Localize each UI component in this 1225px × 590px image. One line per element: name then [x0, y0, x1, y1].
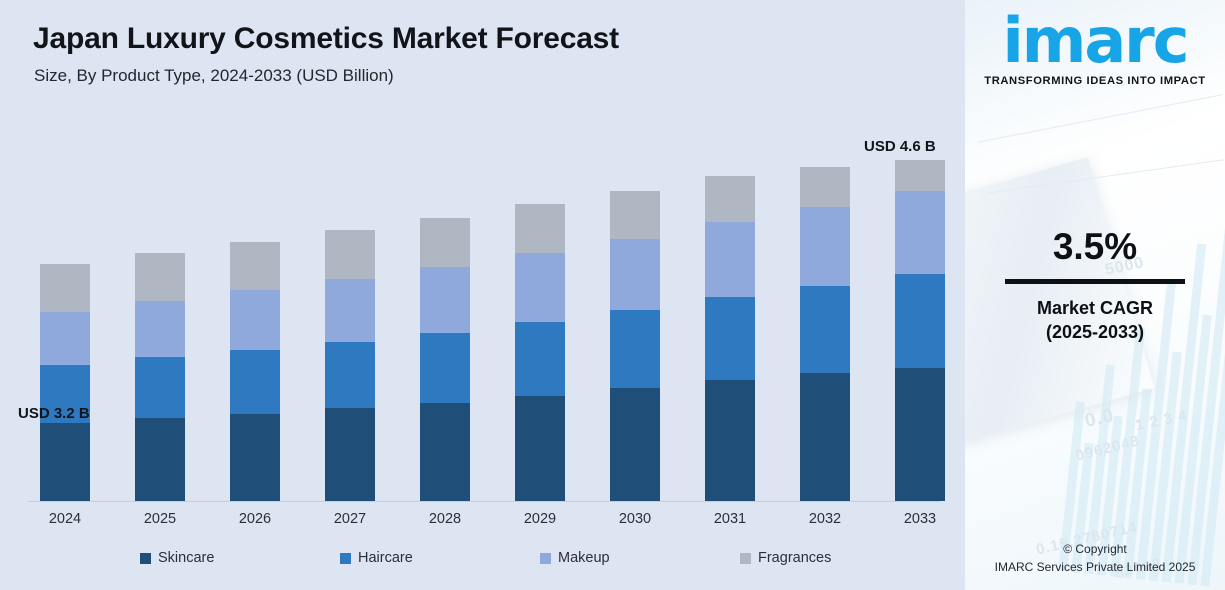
cagr-block: 3.5% Market CAGR (2025-2033)	[965, 228, 1225, 345]
bar-segment-haircare[interactable]	[135, 357, 185, 418]
bar-2029[interactable]	[515, 204, 565, 501]
bar-2024[interactable]	[40, 264, 90, 501]
bar-segment-skincare[interactable]	[230, 414, 280, 501]
cagr-label: Market CAGR	[965, 296, 1225, 320]
legend-swatch-haircare	[340, 553, 351, 564]
legend-item-makeup[interactable]: Makeup	[540, 550, 610, 566]
x-axis-tick-2025: 2025	[135, 511, 185, 527]
x-axis-tick-2026: 2026	[230, 511, 280, 527]
legend-swatch-skincare	[140, 553, 151, 564]
x-axis-tick-2029: 2029	[515, 511, 565, 527]
copyright-line-2: IMARC Services Private Limited 2025	[965, 558, 1225, 576]
legend-item-skincare[interactable]: Skincare	[140, 550, 214, 566]
x-axis-tick-2030: 2030	[610, 511, 660, 527]
cagr-value: 3.5%	[965, 228, 1225, 265]
bar-segment-fragrances[interactable]	[420, 218, 470, 268]
stacked-bar-chart: 2024202520262027202820292030203120322033	[0, 0, 965, 590]
legend-item-fragrances[interactable]: Fragrances	[740, 550, 831, 566]
bar-segment-makeup[interactable]	[515, 253, 565, 321]
cagr-divider	[1005, 279, 1185, 284]
bar-segment-skincare[interactable]	[515, 396, 565, 501]
bar-segment-makeup[interactable]	[610, 239, 660, 310]
bar-2026[interactable]	[230, 242, 280, 501]
legend-label: Skincare	[158, 550, 214, 566]
bar-segment-fragrances[interactable]	[895, 160, 945, 191]
bar-segment-makeup[interactable]	[135, 301, 185, 357]
bar-segment-makeup[interactable]	[325, 279, 375, 341]
bar-2030[interactable]	[610, 191, 660, 501]
bar-segment-fragrances[interactable]	[135, 253, 185, 301]
bar-segment-fragrances[interactable]	[325, 230, 375, 279]
x-axis-tick-2033: 2033	[895, 511, 945, 527]
imarc-logo: imarc TRANSFORMING IDEAS INTO IMPACT	[965, 12, 1225, 87]
copyright-block: © Copyright IMARC Services Private Limit…	[965, 540, 1225, 576]
bar-segment-makeup[interactable]	[230, 290, 280, 349]
bar-segment-makeup[interactable]	[800, 207, 850, 286]
copyright-line-1: © Copyright	[965, 540, 1225, 558]
bar-segment-haircare[interactable]	[895, 274, 945, 367]
legend-swatch-fragrances	[740, 553, 751, 564]
bar-segment-fragrances[interactable]	[40, 264, 90, 312]
bar-segment-skincare[interactable]	[40, 423, 90, 501]
legend-label: Makeup	[558, 550, 610, 566]
bar-2025[interactable]	[135, 253, 185, 501]
bar-segment-haircare[interactable]	[610, 310, 660, 389]
x-axis-tick-2028: 2028	[420, 511, 470, 527]
bar-2027[interactable]	[325, 230, 375, 501]
bar-segment-skincare[interactable]	[325, 408, 375, 501]
bar-segment-skincare[interactable]	[895, 368, 945, 501]
bar-2028[interactable]	[420, 218, 470, 501]
bar-segment-skincare[interactable]	[135, 418, 185, 501]
bar-segment-skincare[interactable]	[420, 403, 470, 501]
legend-label: Fragrances	[758, 550, 831, 566]
bar-segment-skincare[interactable]	[705, 380, 755, 501]
x-axis-tick-2032: 2032	[800, 511, 850, 527]
legend-item-haircare[interactable]: Haircare	[340, 550, 413, 566]
bar-segment-makeup[interactable]	[705, 222, 755, 298]
end-value-annotation: USD 4.6 B	[864, 138, 936, 155]
bar-segment-haircare[interactable]	[515, 322, 565, 396]
bar-segment-haircare[interactable]	[800, 286, 850, 373]
x-axis-tick-2027: 2027	[325, 511, 375, 527]
brand-panel: 0.0 1 2 3 4 5000 0962048 0.15.2780714 92…	[965, 0, 1225, 590]
bar-segment-haircare[interactable]	[420, 333, 470, 403]
bar-segment-fragrances[interactable]	[705, 176, 755, 221]
x-axis-tick-2024: 2024	[40, 511, 90, 527]
bar-segment-haircare[interactable]	[230, 350, 280, 414]
bar-segment-skincare[interactable]	[800, 373, 850, 501]
bar-segment-fragrances[interactable]	[800, 167, 850, 207]
bar-2033[interactable]	[895, 160, 945, 501]
chart-panel: Japan Luxury Cosmetics Market Forecast S…	[0, 0, 965, 590]
bar-segment-fragrances[interactable]	[230, 242, 280, 291]
bar-segment-makeup[interactable]	[895, 191, 945, 274]
logo-tagline: TRANSFORMING IDEAS INTO IMPACT	[965, 75, 1225, 87]
bar-segment-makeup[interactable]	[420, 267, 470, 332]
bar-segment-makeup[interactable]	[40, 312, 90, 365]
chart-baseline	[28, 501, 940, 502]
cagr-period: (2025-2033)	[965, 320, 1225, 344]
logo-wordmark: imarc	[965, 12, 1225, 71]
bar-segment-skincare[interactable]	[610, 388, 660, 501]
legend-label: Haircare	[358, 550, 413, 566]
bar-segment-fragrances[interactable]	[610, 191, 660, 238]
screenshot-root: Japan Luxury Cosmetics Market Forecast S…	[0, 0, 1225, 590]
bar-segment-haircare[interactable]	[705, 297, 755, 380]
bar-2031[interactable]	[705, 176, 755, 501]
bar-segment-haircare[interactable]	[325, 342, 375, 409]
chart-legend: SkincareHaircareMakeupFragrances	[110, 550, 910, 572]
start-value-annotation: USD 3.2 B	[18, 405, 90, 422]
bar-segment-fragrances[interactable]	[515, 204, 565, 253]
x-axis-tick-2031: 2031	[705, 511, 755, 527]
legend-swatch-makeup	[540, 553, 551, 564]
bar-2032[interactable]	[800, 167, 850, 501]
